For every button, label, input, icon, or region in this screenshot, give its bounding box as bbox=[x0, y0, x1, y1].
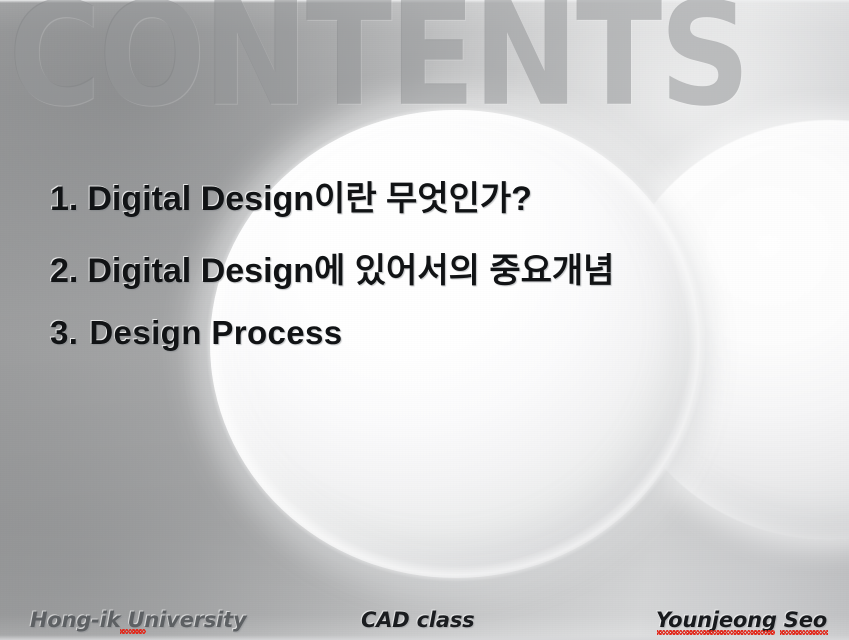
contents-item-3-number: 3. bbox=[50, 316, 78, 349]
contents-item-2-label: Digital Design에 있어서의 중요개념 bbox=[87, 254, 614, 288]
footer-course-label: CAD class bbox=[361, 608, 474, 632]
contents-list-item-2: 2. Digital Design에 있어서의 중요개념 bbox=[50, 254, 810, 288]
slide-footer: Hong-ik University CAD class Younjeong S… bbox=[0, 598, 849, 632]
contents-item-1-label: Digital Design이란 무엇인가? bbox=[87, 182, 532, 216]
contents-list-item-1: 1. Digital Design이란 무엇인가? bbox=[50, 182, 810, 216]
contents-item-1-number: 1. bbox=[50, 182, 78, 216]
presentation-slide: CONTENTS 1. Digital Design이란 무엇인가? 2. Di… bbox=[0, 0, 849, 640]
footer-course: CAD class bbox=[361, 608, 474, 632]
contents-item-2-number: 2. bbox=[50, 254, 78, 288]
footer-author: Younjeong Seo bbox=[656, 608, 827, 632]
footer-author-label: Younjeong Seo bbox=[656, 608, 827, 632]
contents-item-3-label: Design Process bbox=[89, 316, 342, 349]
contents-list: 1. Digital Design이란 무엇인가? 2. Digital Des… bbox=[50, 182, 810, 349]
footer-institution-label: Hong-ik University bbox=[30, 608, 247, 632]
contents-list-item-3: 3. Design Process bbox=[50, 316, 810, 349]
footer-institution: Hong-ik University bbox=[30, 608, 247, 632]
